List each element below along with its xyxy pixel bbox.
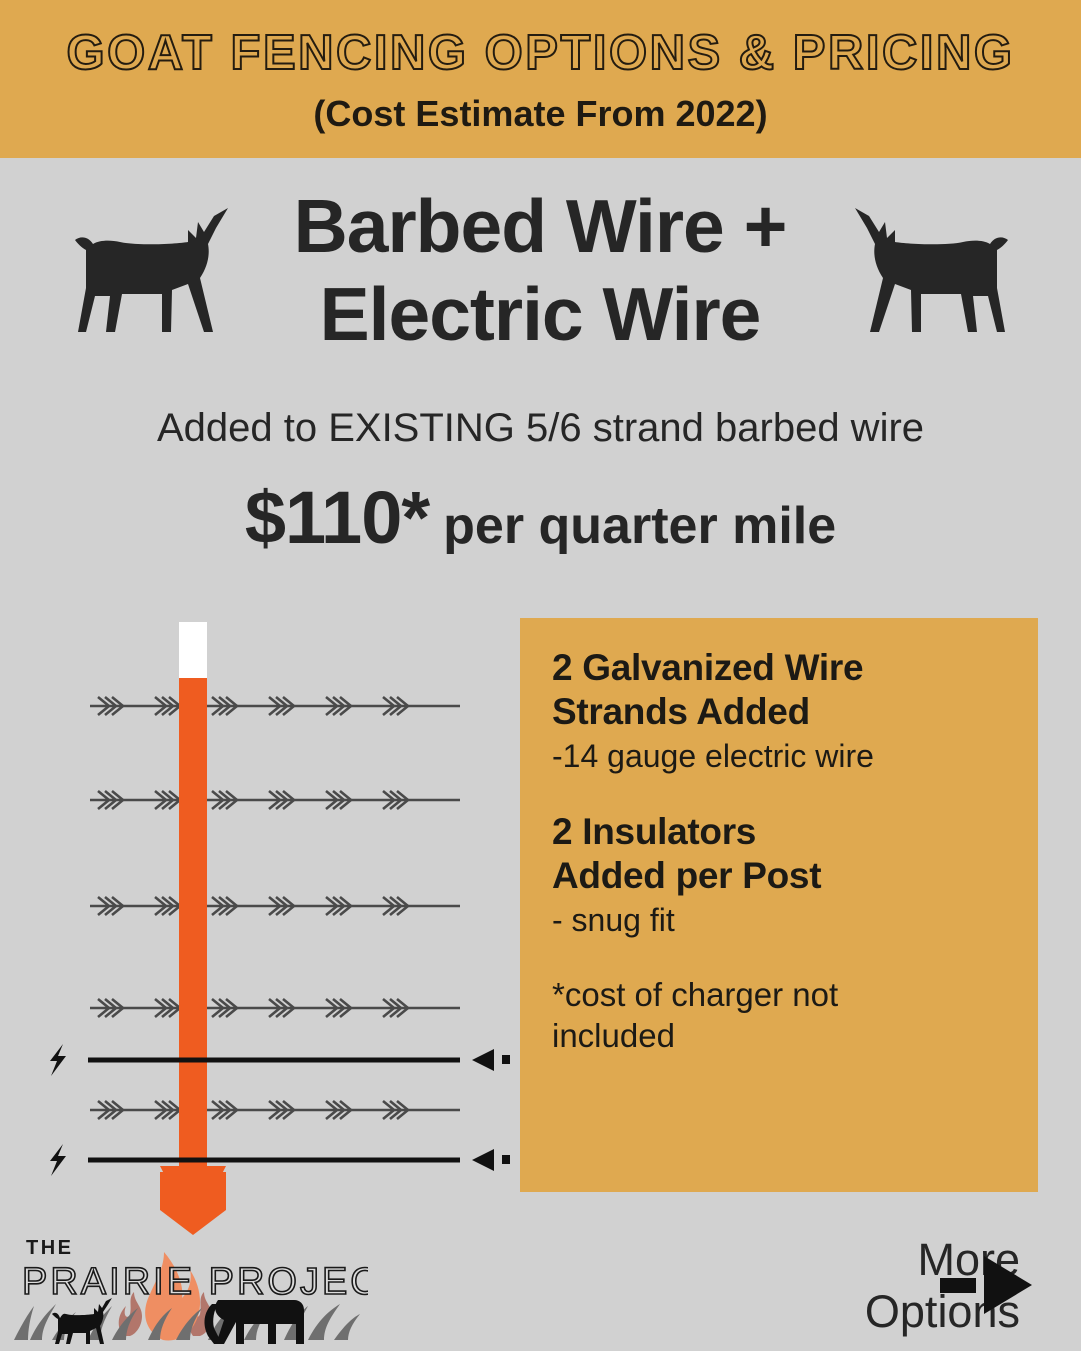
price-line: $110*per quarter mile: [0, 478, 1081, 579]
barbed-wire-group: [90, 697, 460, 1119]
post-tip: [179, 622, 207, 682]
electric-wire-row: [50, 1044, 510, 1076]
header-title: GOAT FENCING OPTIONS & PRICING: [0, 22, 1081, 84]
page-title: Barbed Wire + Electric Wire: [250, 182, 830, 358]
post-body: [179, 678, 207, 1208]
price-unit: per quarter mile: [443, 497, 836, 555]
barbed-wire-row: [90, 897, 460, 915]
left-arrow-icon: [472, 1049, 510, 1071]
logo-name: PRAIRIE PROJECT: [22, 1261, 368, 1303]
spacer: [552, 776, 1012, 810]
info-item2-heading-line1: 2 Insulators: [552, 810, 1012, 854]
spacer: [552, 940, 1012, 974]
barbed-wire-row: [90, 697, 460, 715]
price-amount: $110*: [245, 476, 429, 559]
info-item2-detail: - snug fit: [552, 900, 1012, 940]
lightning-bolt-icon: [50, 1144, 66, 1176]
left-arrow-icon: [472, 1149, 510, 1171]
electric-wire-row: [50, 1144, 510, 1176]
right-arrow-icon[interactable]: [940, 1250, 1040, 1320]
info-item1-heading-line1: 2 Galvanized Wire: [552, 646, 1012, 690]
title-line-2: Electric Wire: [250, 270, 830, 358]
subheading: Added to EXISTING 5/6 strand barbed wire: [0, 400, 1081, 456]
barbed-wire-row: [90, 791, 460, 809]
info-item1-heading-line2: Strands Added: [552, 690, 1012, 734]
lightning-bolt-icon: [50, 1044, 66, 1076]
title-line-1: Barbed Wire +: [250, 182, 830, 270]
goat-silhouette-left-icon: [58, 192, 238, 352]
logo-the: THE: [26, 1237, 74, 1259]
barbed-wire-row: [90, 999, 460, 1017]
info-box: 2 Galvanized Wire Strands Added -14 gaug…: [520, 618, 1038, 1192]
goat-silhouette-right-icon: [845, 192, 1025, 352]
footnote-line1: *cost of charger not: [552, 974, 1012, 1015]
infographic-page: GOAT FENCING OPTIONS & PRICING (Cost Est…: [0, 0, 1081, 1351]
footnote-line2: included: [552, 1015, 1012, 1056]
info-item1-detail: -14 gauge electric wire: [552, 736, 1012, 776]
barbed-wire-row: [90, 1101, 460, 1119]
info-item2-heading-line2: Added per Post: [552, 854, 1012, 898]
header-banner: GOAT FENCING OPTIONS & PRICING (Cost Est…: [0, 0, 1081, 158]
fence-diagram: [40, 610, 510, 1235]
header-subtitle: (Cost Estimate From 2022): [0, 92, 1081, 136]
prairie-project-logo[interactable]: THE PRAIRIE PROJECT: [8, 1228, 368, 1351]
